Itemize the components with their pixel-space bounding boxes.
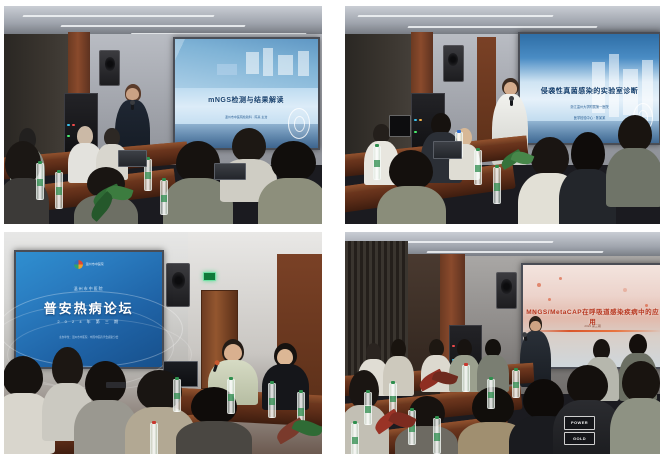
smartphone-held-up [389,115,411,137]
slide-org-line-bl: 温州市中医院 [16,286,162,292]
conference-scene-tr: 侵袭性真菌感染的实验室诊断 浙江温州大学附属第一医院 医学检验中心 · 陈某某 [345,6,660,224]
photo-top-left: mNGS检测与结果解读 温州市中医院检验科 · 陈某 主治 [4,6,322,224]
slide-title-tl: mNGS检测与结果解读 [175,95,318,105]
water-bottle [512,370,520,399]
audience-person [258,141,322,224]
water-bottle [351,423,359,454]
laptop [214,163,246,180]
water-bottle [36,163,44,200]
wall-speaker-icon [166,263,190,307]
eyeglasses-icon [106,382,126,388]
water-bottle [487,379,495,410]
slide-title-tr: 侵袭性真菌感染的实验室诊断 [520,86,659,96]
audience-person [377,150,446,224]
potted-plant [271,418,322,454]
conference-scene-bl: 温州市中医院 温州市中医院 普安热病论坛 2 0 2 4 年 第 三 期 主办单… [4,232,322,454]
potted-plant [414,370,464,406]
potted-plant [87,185,144,224]
water-bottle [150,423,158,454]
photo-bottom-right: MNGS/MetaCAP在呼吸道感染疾病中的应用 2024 第三期 [345,232,660,454]
water-bottle [160,180,168,215]
laptop [433,141,461,158]
jacket-text-line1: POWER [564,416,595,430]
slide-footer-line-bl: 主办单位：温州市中医院 · 中国中医药学会感染分会 [16,335,162,339]
jacket-text-line2: GOLD [564,432,595,446]
audience-person [606,115,660,207]
logo-text: 温州市中医院 [86,262,104,266]
logo-mark-icon [74,260,83,269]
conference-scene-br: MNGS/MetaCAP在呼吸道感染疾病中的应用 2024 第三期 [345,232,660,454]
slide-session-line-bl: 2 0 2 4 年 第 三 期 [16,319,162,325]
conference-scene-tl: mNGS检测与结果解读 温州市中医院检验科 · 陈某 主治 [4,6,322,224]
potted-plant [370,410,420,450]
water-bottle [227,379,235,414]
photo-collage: mNGS检测与结果解读 温州市中医院检验科 · 陈某 主治 [0,0,664,458]
ceiling [4,6,322,37]
slide-header-image [175,39,318,88]
wall-speaker-icon [496,272,517,310]
potted-plant [496,150,540,185]
water-bottle [373,146,381,181]
water-bottle [173,379,181,412]
photo-bottom-left: 温州市中医院 温州市中医院 普安热病论坛 2 0 2 4 年 第 三 期 主办单… [4,232,322,454]
microphone-icon [510,99,513,106]
water-bottle [433,418,441,453]
slide-title-bl: 普安热病论坛 [16,298,162,317]
water-bottle [268,383,276,418]
audience-person [176,387,252,454]
audience-person [610,361,660,454]
photo-top-right: 侵袭性真菌感染的实验室诊断 浙江温州大学附属第一医院 医学检验中心 · 陈某某 [345,6,660,224]
water-bottle [474,150,482,185]
forum-logo: 温州市中医院 [74,260,104,269]
laptop [118,150,147,167]
microphone-icon [523,335,527,342]
water-bottle [55,172,63,209]
wall-speaker-icon [443,45,464,82]
microphone-icon [131,103,134,110]
wall-speaker-icon [99,50,120,87]
emergency-exit-sign-icon [203,272,216,281]
